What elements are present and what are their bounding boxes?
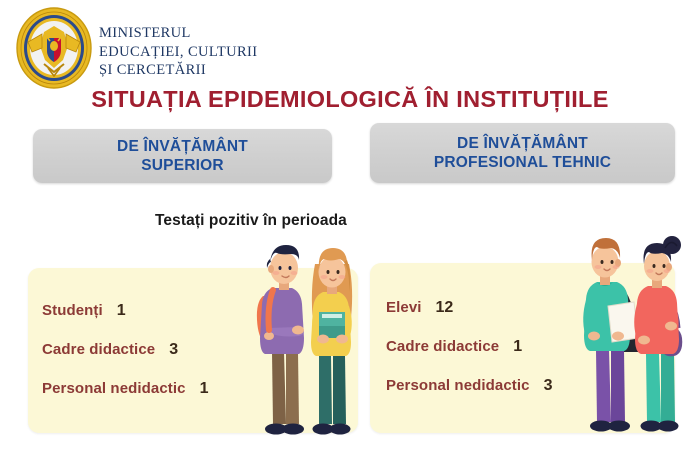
moldova-government-crest-icon bbox=[14, 6, 94, 90]
stat-label: Personal nedidactic bbox=[386, 377, 530, 394]
stat-value: 1 bbox=[200, 380, 209, 398]
stat-row: Personal nedidactic 3 bbox=[386, 377, 553, 416]
stat-label: Cadre didactice bbox=[42, 341, 155, 358]
stat-row: Elevi 12 bbox=[386, 299, 553, 338]
stat-value: 12 bbox=[436, 299, 454, 317]
ministry-line-1: MINISTERUL bbox=[99, 24, 258, 43]
stat-label: Studenți bbox=[42, 302, 103, 319]
subtitle-period: Testați pozitiv în perioada bbox=[155, 212, 347, 230]
stat-value: 1 bbox=[513, 338, 522, 356]
ministry-line-3: ȘI CERCETĂRII bbox=[99, 61, 258, 80]
stats-panel-profesional-tehnic: Elevi 12 Cadre didactice 1 Personal nedi… bbox=[370, 263, 675, 433]
stat-row: Cadre didactice 1 bbox=[386, 338, 553, 377]
category-box-profesional-tehnic[interactable]: DE ÎNVĂȚĂMÂNT PROFESIONAL TEHNIC bbox=[370, 123, 675, 183]
category-profesional-line-1: DE ÎNVĂȚĂMÂNT bbox=[457, 134, 588, 153]
stat-row: Personal nedidactic 1 bbox=[42, 380, 209, 419]
stat-value: 3 bbox=[544, 377, 553, 395]
page-title: SITUAȚIA EPIDEMIOLOGICĂ ÎN INSTITUȚIILE bbox=[0, 86, 700, 113]
category-superior-line-1: DE ÎNVĂȚĂMÂNT bbox=[117, 137, 248, 156]
stat-value: 3 bbox=[169, 341, 178, 359]
category-superior-line-2: SUPERIOR bbox=[141, 156, 224, 175]
category-box-superior[interactable]: DE ÎNVĂȚĂMÂNT SUPERIOR bbox=[33, 129, 332, 183]
stats-panel-superior: Studenți 1 Cadre didactice 3 Personal ne… bbox=[28, 268, 358, 433]
stat-row: Studenți 1 bbox=[42, 302, 209, 341]
ministry-line-2: EDUCAȚIEI, CULTURII bbox=[99, 43, 258, 62]
stat-label: Cadre didactice bbox=[386, 338, 499, 355]
ministry-name: MINISTERUL EDUCAȚIEI, CULTURII ȘI CERCET… bbox=[99, 24, 258, 80]
stat-label: Elevi bbox=[386, 299, 422, 316]
stat-row: Cadre didactice 3 bbox=[42, 341, 209, 380]
page-header: MINISTERUL EDUCAȚIEI, CULTURII ȘI CERCET… bbox=[0, 0, 700, 86]
category-profesional-line-2: PROFESIONAL TEHNIC bbox=[434, 153, 611, 172]
stat-value: 1 bbox=[117, 302, 126, 320]
stat-label: Personal nedidactic bbox=[42, 380, 186, 397]
stats-list-superior: Studenți 1 Cadre didactice 3 Personal ne… bbox=[42, 302, 209, 419]
stats-list-profesional-tehnic: Elevi 12 Cadre didactice 1 Personal nedi… bbox=[386, 299, 553, 416]
